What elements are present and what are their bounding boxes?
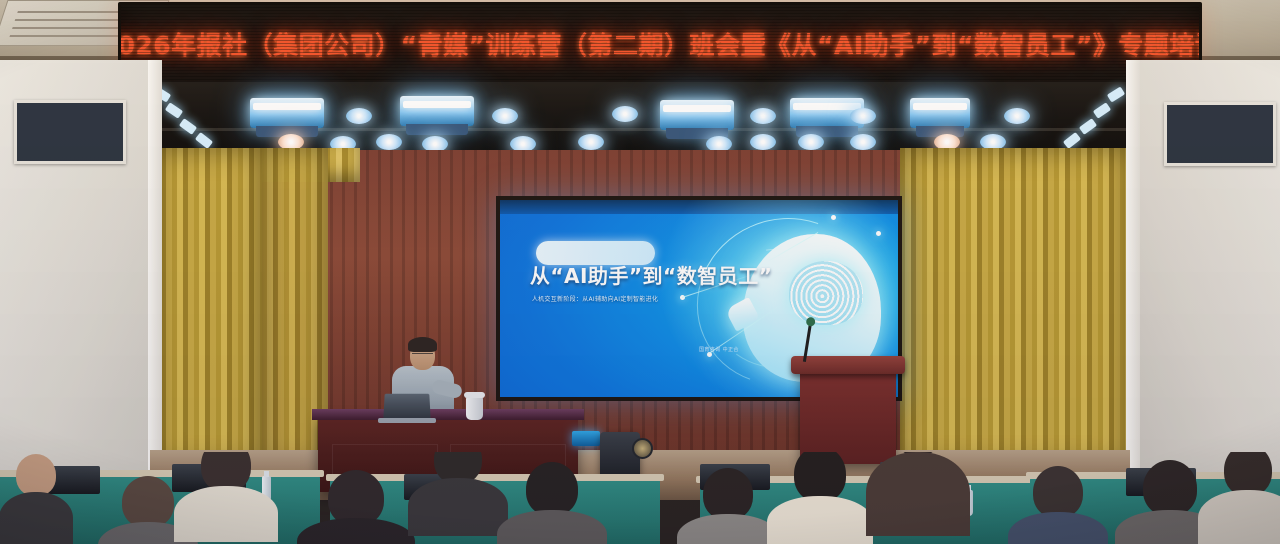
conference-hall-photo: 2026年报社（集团公司）“青媒”训练营（第二期）班会暨《从“AI助手”到“数智… [0,0,1280,544]
table-top [312,409,584,420]
laptop-base [378,418,436,423]
audience-member [300,470,412,544]
led-banner-text: 2026年报社（集团公司）“青媒”训练营（第二期）班会暨《从“AI助手”到“数智… [118,26,1202,62]
audience-area [0,452,1280,544]
network-node [876,231,881,236]
spotlight [850,134,876,150]
network-node [831,215,836,220]
spotlight [750,134,776,150]
audience-member [868,452,968,534]
audience-member [0,452,72,544]
stage-light-fixture [400,96,474,126]
audience-member [1200,452,1280,544]
slide-title: 从“AI助手”到“数智员工” [530,260,773,289]
stage-curtain-left [150,148,262,468]
speaker-head [410,341,435,370]
spotlight [346,108,372,124]
lectern-top [791,356,905,374]
pillar-left [148,60,162,490]
glasses-icon [412,353,433,359]
brain-circuit [789,261,863,325]
slide-credit: 国育咨询 中正合 [699,346,739,353]
audience-member [1010,466,1106,544]
wall-right [1136,60,1280,490]
led-banner: 2026年报社（集团公司）“青媒”训练营（第二期）班会暨《从“AI助手”到“数智… [118,2,1202,86]
spotlight [798,134,824,150]
speaker-hair [408,337,437,352]
lectern [800,368,896,464]
laptop [383,394,430,420]
stage-light-fixture [910,98,970,128]
spotlight [850,108,876,124]
audience-member [178,452,274,528]
audience-member [770,452,870,538]
water-cup [466,396,483,420]
wall-left [0,60,150,490]
camera-lcd-screen [572,431,600,446]
stage-light-fixture [660,100,734,130]
spotlight [612,106,638,122]
pillar-right [1126,60,1140,490]
slide-subtitle: 人机交互新阶段：从AI辅助向AI定制智能进化 [532,294,658,303]
wall-dark-panel-right [1164,102,1276,166]
audience-member [680,468,776,544]
audience-member [410,452,506,530]
stage-curtain-right [900,148,1130,468]
spotlight [1004,108,1030,124]
spotlight [578,134,604,150]
wall-dark-panel-left [14,100,126,164]
spotlight [750,108,776,124]
audience-member [500,462,604,544]
stage-light-fixture [250,98,324,128]
lighting-truss [150,82,1130,154]
spotlight [492,108,518,124]
spotlight [376,134,402,150]
